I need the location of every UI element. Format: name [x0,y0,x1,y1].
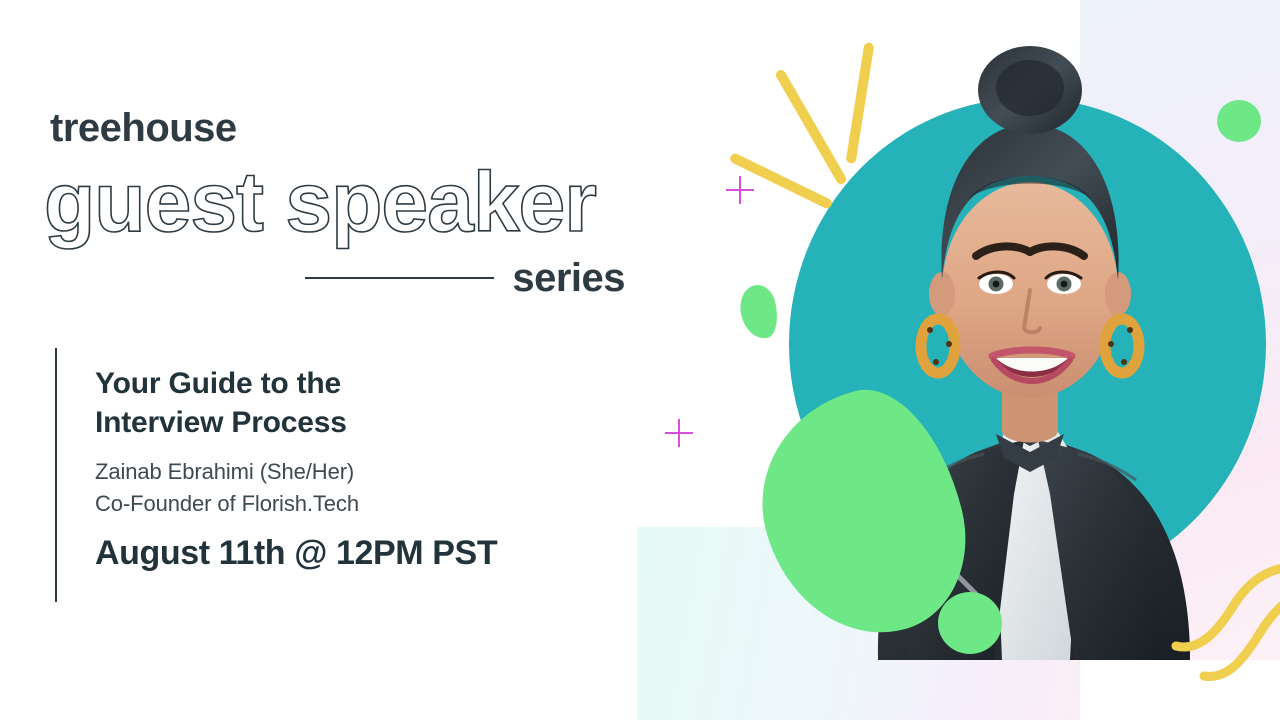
series-label: series [512,258,625,298]
talk-title-line1: Your Guide to the [95,367,341,400]
brand-wordmark: treehouse [50,108,237,148]
magenta-plus-icon [665,419,693,447]
series-row: series [305,258,625,298]
event-datetime: August 11th @ 12PM PST [95,534,615,573]
talk-title: Your Guide to the Interview Process [95,364,615,442]
event-details: Your Guide to the Interview Process Zain… [55,348,615,602]
speaker-name: Zainab Ebrahimi (She/Her) [95,456,615,488]
green-circle-bottom-icon [938,592,1002,654]
promo-graphic: treehouse guest speaker series Your Guid… [0,0,1280,720]
headline-outline-text: guest speaker [44,160,596,244]
series-divider-rule [305,277,494,279]
green-blob-small-icon [736,282,782,342]
magenta-plus-icon [726,176,754,204]
yellow-squiggle-icon [1170,560,1280,690]
speaker-role: Co-Founder of Florish.Tech [95,488,615,520]
talk-title-line2: Interview Process [95,406,347,439]
